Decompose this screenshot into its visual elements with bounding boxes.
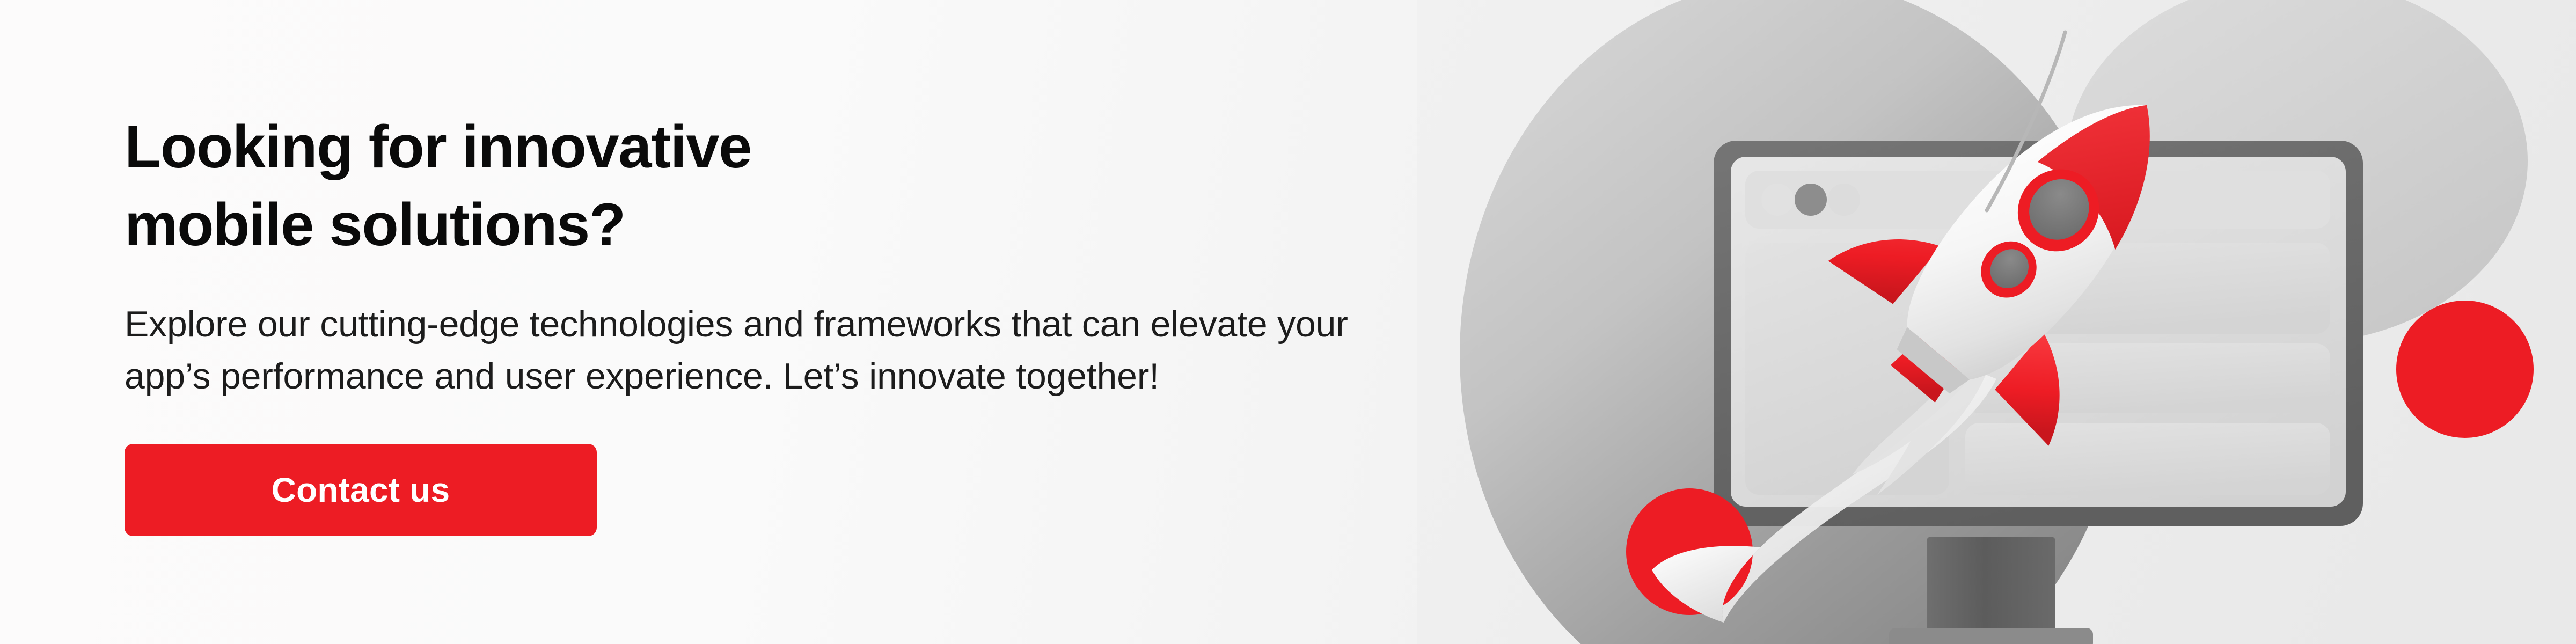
red-circle-right: [2396, 301, 2534, 438]
window-dot-minimize-icon: [1761, 184, 1794, 216]
banner-description: Explore our cutting-edge technologies an…: [125, 298, 1413, 402]
window-dot-close-icon: [1828, 184, 1860, 216]
hero-illustration: [1417, 0, 2576, 644]
banner-content: Looking for innovative mobile solutions?…: [125, 0, 1413, 644]
browser-panel-bottom-right: [1965, 423, 2330, 495]
window-dot-maximize-icon: [1795, 184, 1827, 216]
promo-banner: Looking for innovative mobile solutions?…: [0, 0, 2576, 644]
contact-us-button[interactable]: Contact us: [125, 444, 597, 536]
page-title: Looking for innovative mobile solutions?: [125, 108, 1413, 264]
